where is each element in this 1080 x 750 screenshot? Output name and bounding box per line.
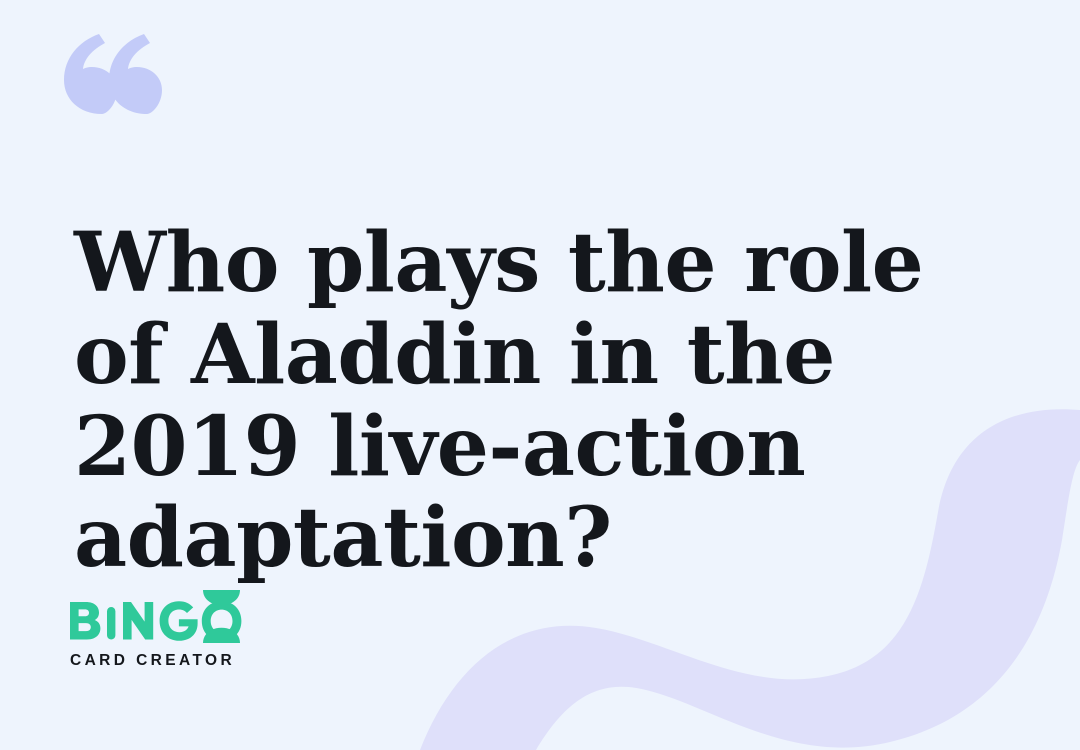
quote-open-icon [62, 34, 162, 114]
brand-logo: CARD CREATOR [66, 590, 266, 682]
logo-wordmark-bingo [66, 590, 242, 644]
quiz-question-card: Who plays the role of Aladdin in the 201… [0, 0, 1080, 750]
logo-tagline: CARD CREATOR [70, 652, 266, 670]
question-text: Who plays the role of Aladdin in the 201… [74, 218, 1004, 585]
logo-arc-top-icon [203, 590, 240, 605]
